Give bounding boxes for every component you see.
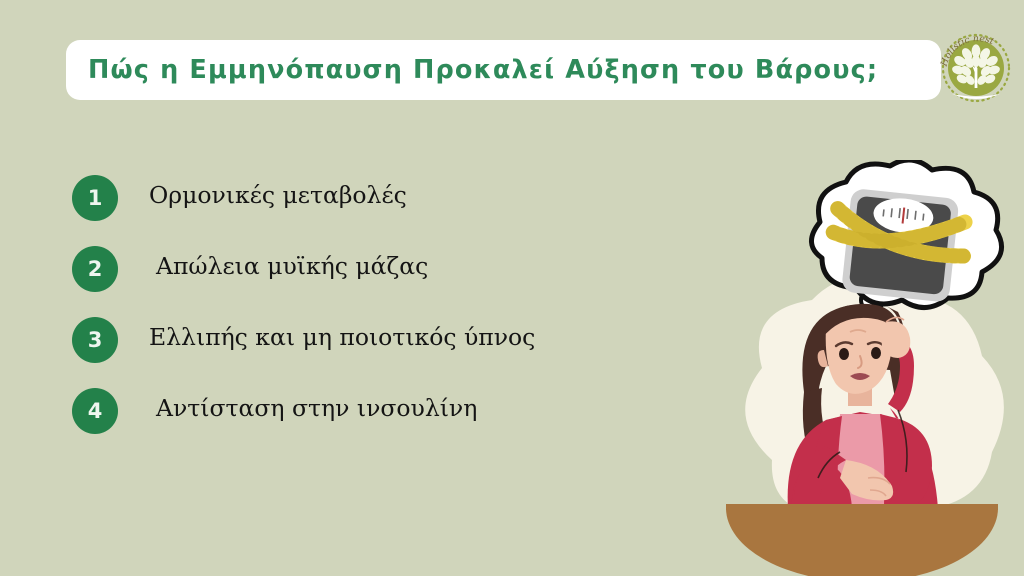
list-item-label-2: Απώλεια μυϊκής μάζας [156, 243, 428, 289]
list-item: 2 Απώλεια μυϊκής μάζας [72, 243, 692, 314]
brand-logo: Holistic nest [936, 20, 1016, 106]
page-title: Πώς η Εμμηνόπαυση Προκαλεί Αύξηση του Βά… [88, 55, 878, 85]
list-item-label-3: Ελλιπής και μη ποιοτικός ύπνος [149, 314, 535, 360]
title-bar: Πώς η Εμμηνόπαυση Προκαλεί Αύξηση του Βά… [66, 40, 941, 100]
list-item: 4 Αντίσταση στην ινσουλίνη [72, 385, 692, 456]
list-number-badge-2: 2 [72, 246, 118, 292]
reasons-list: 1 Ορμονικές μεταβολές 2 Απώλεια μυϊκής μ… [72, 172, 692, 456]
illustration-worried-woman [700, 160, 1024, 576]
list-number-badge-1: 1 [72, 175, 118, 221]
list-number-badge-3: 3 [72, 317, 118, 363]
list-item: 3 Ελλιπής και μη ποιοτικός ύπνος [72, 314, 692, 385]
list-number-badge-4: 4 [72, 388, 118, 434]
list-item-label-1: Ορμονικές μεταβολές [149, 172, 407, 218]
list-item-label-4: Αντίσταση στην ινσουλίνη [156, 385, 477, 431]
tree-logo-icon: Holistic nest [936, 20, 1016, 106]
table-surface [726, 504, 998, 576]
slide-canvas: Πώς η Εμμηνόπαυση Προκαλεί Αύξηση του Βά… [0, 0, 1024, 576]
list-item: 1 Ορμονικές μεταβολές [72, 172, 692, 243]
